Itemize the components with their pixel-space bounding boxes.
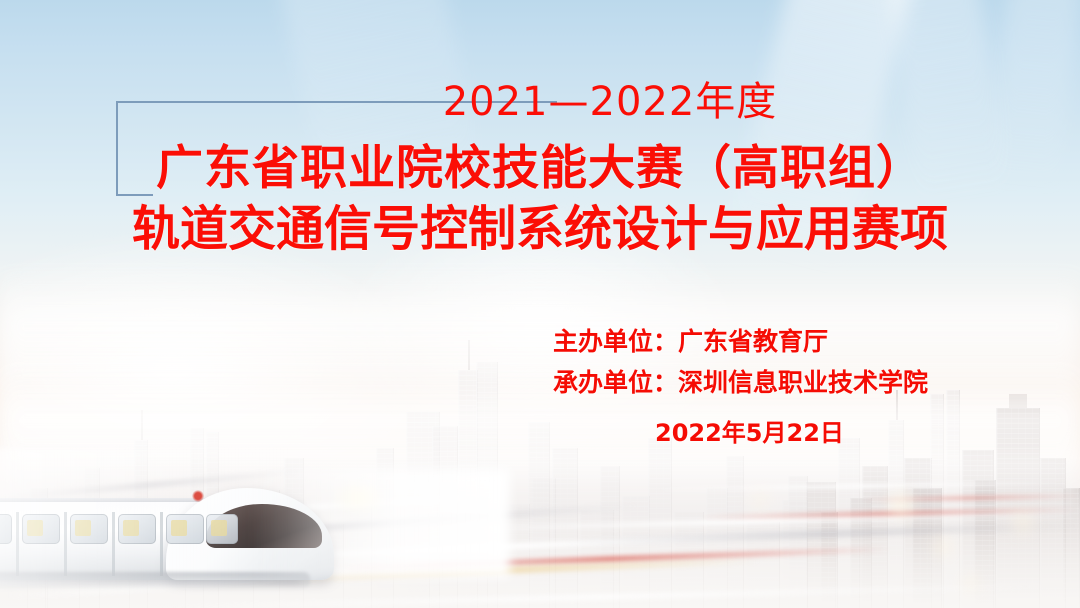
high-speed-train-graphic [0, 460, 390, 580]
train-headlight-glow [330, 480, 390, 516]
organizer-block: 主办单位：广东省教育厅 承办单位：深圳信息职业技术学院 2022年5月22日 [553, 322, 973, 448]
host-line: 承办单位：深圳信息职业技术学院 [553, 363, 973, 404]
organizer-line: 主办单位：广东省教育厅 [553, 322, 973, 363]
year-label: 2021—2022年度 [0, 82, 1080, 122]
event-date: 2022年5月22日 [655, 413, 973, 448]
haze-overlay [0, 230, 430, 460]
competition-title-line-2: 轨道交通信号控制系统设计与应用赛项 [0, 199, 1080, 259]
competition-title-line-1: 广东省职业院校技能大赛（高职组） [0, 140, 1080, 199]
motion-blur-overlay [0, 448, 430, 588]
motion-blur-overlay [250, 468, 510, 578]
presentation-title-slide: 2021—2022年度 广东省职业院校技能大赛（高职组） 轨道交通信号控制系统设… [0, 0, 1080, 608]
ground-plane [0, 458, 1080, 608]
title-block: 广东省职业院校技能大赛（高职组） 轨道交通信号控制系统设计与应用赛项 [0, 140, 1080, 259]
